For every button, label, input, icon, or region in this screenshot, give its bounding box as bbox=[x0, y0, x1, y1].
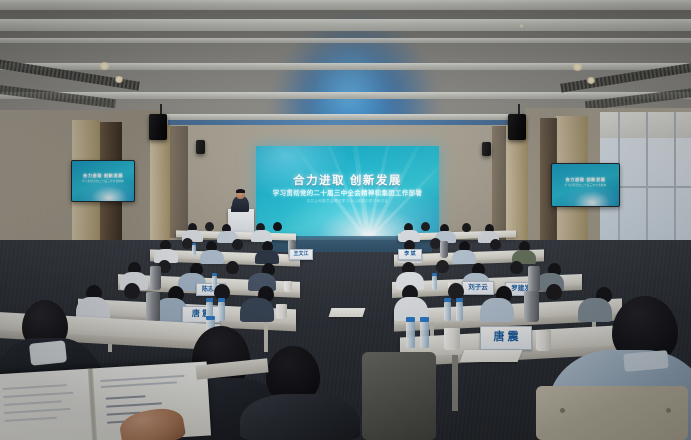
name-card: 王文江 bbox=[289, 249, 313, 260]
chair-stud bbox=[560, 408, 565, 413]
notebook-text-line bbox=[4, 408, 70, 414]
audience-torso bbox=[452, 250, 476, 264]
audience-torso bbox=[200, 250, 224, 264]
name-card-text: 王文江 bbox=[290, 250, 312, 257]
notebook-text-line bbox=[5, 417, 57, 422]
ceiling-downlight bbox=[114, 76, 124, 83]
ceiling-slat bbox=[0, 0, 691, 10]
water-bottle-cap bbox=[456, 298, 463, 302]
water-bottle bbox=[406, 322, 415, 348]
paper-cup bbox=[276, 304, 287, 319]
audience-torso bbox=[255, 250, 279, 264]
audience-head bbox=[421, 222, 430, 231]
water-bottle-cap bbox=[212, 273, 217, 276]
side-monitor-right-title: 合力进取 创新发展 bbox=[552, 177, 619, 183]
thermos bbox=[524, 291, 539, 322]
notebook-text-line bbox=[101, 381, 177, 388]
chair-back-right bbox=[536, 386, 688, 440]
water-bottle bbox=[420, 322, 429, 348]
audience-torso bbox=[578, 298, 612, 322]
ceiling-downlight bbox=[99, 62, 110, 70]
water-bottle-cap bbox=[406, 317, 415, 322]
name-card-text: 李 斌 bbox=[399, 250, 421, 257]
notebook-text-line bbox=[3, 392, 73, 398]
screen-subtitle: 学习贯彻党的二十届三中全会精神和集团工作部署 bbox=[256, 188, 439, 197]
wall-cove-light bbox=[168, 120, 508, 125]
side-monitor-left-subtitle: 学习贯彻党的二十届三中全会精神 bbox=[72, 179, 134, 183]
screen-main-title: 合力进取 创新发展 bbox=[256, 172, 439, 188]
audience-head bbox=[273, 222, 282, 231]
hanging-speaker-right bbox=[508, 114, 526, 140]
name-card-text: 唐 震 bbox=[481, 327, 531, 343]
notebook-handwriting bbox=[106, 395, 146, 399]
ceiling-slat bbox=[0, 19, 691, 31]
wall-panel-center-right bbox=[492, 126, 506, 244]
thermos bbox=[146, 292, 160, 322]
handout-paper bbox=[460, 350, 523, 362]
water-bottle bbox=[192, 245, 196, 255]
ceiling-slat-gap bbox=[0, 43, 691, 63]
wall-speaker-left bbox=[196, 140, 205, 154]
ceiling-downlight bbox=[586, 77, 596, 84]
water-bottle-cap bbox=[218, 298, 225, 302]
paper-cup bbox=[284, 281, 292, 292]
foreground-torso-center-2 bbox=[240, 394, 360, 440]
audience-head bbox=[448, 283, 464, 299]
water-bottle-cap bbox=[206, 316, 215, 320]
notebook-spine bbox=[88, 368, 98, 440]
water-bottle-cap bbox=[420, 317, 429, 322]
chair-back bbox=[362, 352, 436, 440]
water-bottle-cap bbox=[444, 298, 451, 302]
side-monitor-right-subtitle: 学习贯彻党的二十届三中全会精神 bbox=[552, 183, 619, 187]
table-leg bbox=[452, 355, 458, 411]
audience-head bbox=[462, 223, 471, 232]
foreground-collar-right bbox=[623, 350, 668, 372]
name-card: 刘子云 bbox=[462, 281, 494, 295]
audience-head bbox=[124, 283, 140, 299]
conference-hall-photo: 合力进取 创新发展 学习贯彻党的二十届三中全会精神和集团工作部署 中共公司委员会… bbox=[0, 0, 691, 440]
name-card: 李 斌 bbox=[398, 249, 422, 260]
thermos bbox=[150, 266, 161, 290]
audience-head bbox=[226, 261, 239, 274]
audience-torso bbox=[240, 298, 274, 322]
audience-head bbox=[490, 239, 501, 250]
notebook-text-line bbox=[4, 400, 62, 406]
thermos bbox=[440, 241, 448, 258]
name-card-text: 刘子云 bbox=[463, 282, 493, 292]
audience-head bbox=[205, 222, 214, 231]
ceiling-slat-gap bbox=[0, 31, 691, 38]
paper-cup bbox=[536, 330, 551, 351]
audience-head bbox=[436, 260, 449, 273]
audience-head bbox=[510, 261, 523, 274]
foreground-collar-left bbox=[29, 340, 67, 366]
ceiling-downlight bbox=[572, 63, 583, 71]
water-bottle-cap bbox=[192, 243, 196, 245]
water-bottle bbox=[432, 276, 437, 290]
chair-stud bbox=[666, 408, 671, 413]
water-bottle bbox=[218, 302, 225, 321]
hanging-speaker-left bbox=[149, 114, 167, 140]
wall-column-center-left bbox=[150, 124, 170, 244]
table-leg bbox=[264, 322, 268, 352]
ceiling-downlight bbox=[519, 24, 524, 28]
screen-footnote: 中共公司委员会理论学习中心组集中学习研讨会 bbox=[256, 199, 439, 204]
audience-head bbox=[232, 239, 243, 250]
wall-panel-center-left bbox=[170, 126, 188, 238]
notebook-text-line bbox=[3, 384, 67, 390]
water-bottle-cap bbox=[432, 273, 437, 276]
paper-cup bbox=[444, 328, 460, 350]
ceiling-slat-gap bbox=[0, 10, 691, 19]
notebook-handwriting bbox=[106, 402, 162, 407]
thermos bbox=[528, 266, 540, 292]
water-bottle bbox=[456, 302, 463, 321]
presenter-hair bbox=[236, 189, 245, 193]
water-bottle-cap bbox=[206, 298, 213, 302]
audience-head bbox=[546, 284, 562, 300]
water-bottle bbox=[444, 302, 451, 321]
side-monitor-left: 合力进取 创新发展 学习贯彻党的二十届三中全会精神 bbox=[71, 160, 135, 202]
side-monitor-right: 合力进取 创新发展 学习贯彻党的二十届三中全会精神 bbox=[551, 163, 620, 207]
wall-speaker-right bbox=[482, 142, 491, 156]
name-card: 唐 震 bbox=[480, 326, 532, 350]
handout-paper bbox=[329, 308, 366, 317]
side-monitor-left-title: 合力进取 创新发展 bbox=[72, 173, 134, 179]
audience-torso bbox=[480, 298, 514, 322]
